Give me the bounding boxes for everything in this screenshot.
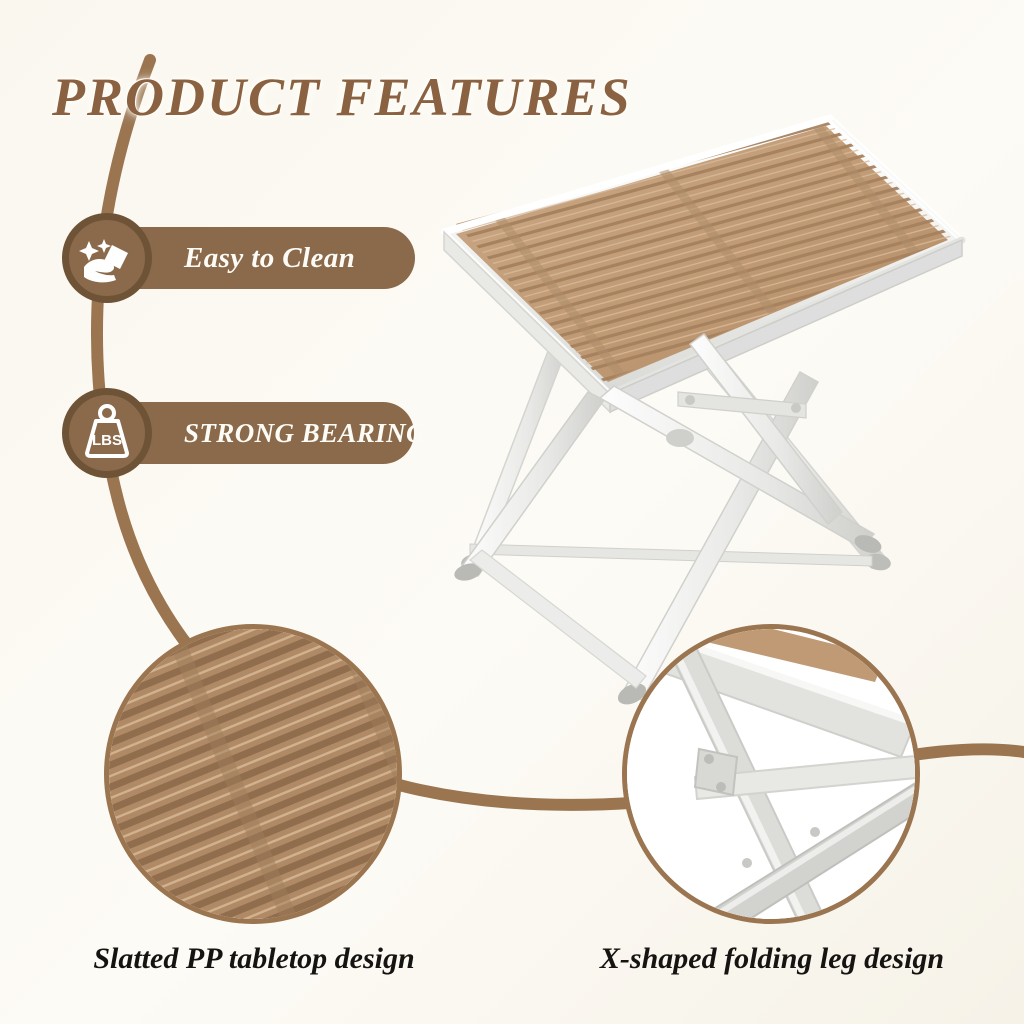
weight-unit-label: LBS [92,432,122,449]
feature-badge-strong-bearing[interactable]: STRONG BEARING LBS [62,388,422,480]
slatted-surface-closeup [107,627,402,924]
feature-pill: Easy to Clean [108,227,415,289]
detail-folding-legs: X-shaped folding leg design [622,624,920,924]
detail-circle [622,624,920,924]
x-frame-leg-closeup [625,627,920,924]
infographic-canvas: PRODUCT FEATURES Easy to Clean STRONG BE… [0,0,1024,1024]
feature-badge-easy-to-clean[interactable]: Easy to Clean [62,213,422,305]
detail-circle [104,624,402,924]
detail-caption: Slatted PP tabletop design [59,942,449,976]
feature-label: STRONG BEARING [184,419,426,448]
detail-slatted-tabletop: Slatted PP tabletop design [104,624,402,924]
feature-pill: STRONG BEARING [108,402,414,464]
weight-lbs-icon: LBS [62,388,152,478]
detail-caption: X-shaped folding leg design [577,942,967,976]
hand-wipe-sparkle-icon [62,213,152,303]
feature-label: Easy to Clean [184,244,355,273]
page-title: PRODUCT FEATURES [52,68,632,126]
